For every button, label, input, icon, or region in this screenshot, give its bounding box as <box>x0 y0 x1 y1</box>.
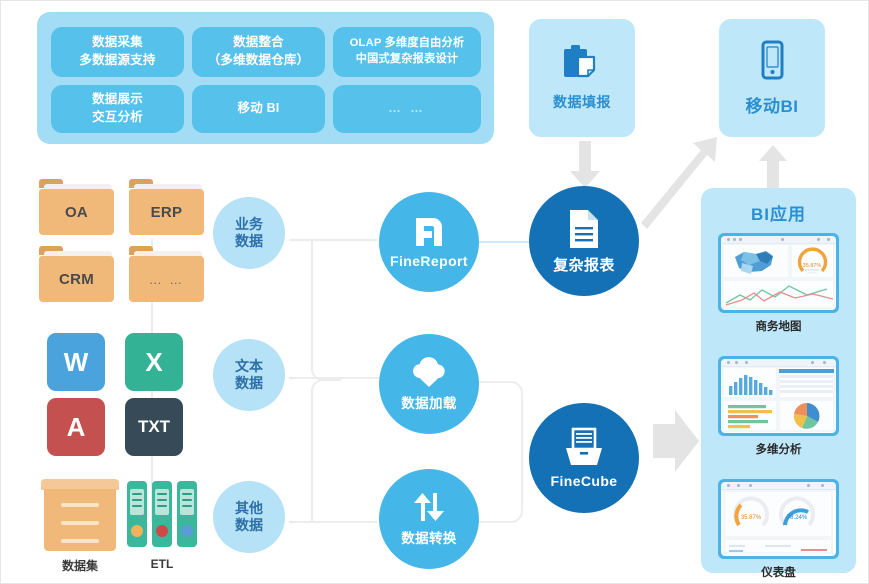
product-finecube-label: FineCube <box>551 473 618 489</box>
file-tile-txt[interactable]: TXT <box>125 398 183 456</box>
bi-thumb-frame <box>718 356 839 436</box>
card-line2: 交互分析 <box>92 110 143 124</box>
bi-item-caption: 商务地图 <box>718 318 839 334</box>
etl-label-text: ETL <box>151 557 174 571</box>
folder-body: OA <box>39 189 114 235</box>
capability-card-olap[interactable]: OLAP 多维度自由分析 中国式复杂报表设计 <box>333 27 481 77</box>
capability-card-collect-text: 数据采集 多数据源支持 <box>79 34 155 70</box>
folder-label: ERP <box>151 204 183 221</box>
connector-transform-to-finecube <box>479 461 523 523</box>
card-line1: 数据采集 <box>92 35 143 49</box>
capability-card-integrate[interactable]: 数据整合 （多维数据仓库） <box>192 27 325 77</box>
file-tile-word[interactable]: W <box>47 333 105 391</box>
process-circle-finereport[interactable]: FineReport <box>379 192 479 292</box>
capability-card-integrate-text: 数据整合 （多维数据仓库） <box>208 34 310 70</box>
binder-icon[interactable] <box>177 481 197 547</box>
cloud-download-icon <box>409 356 449 388</box>
file-tile-txt-label: TXT <box>138 417 170 437</box>
process-circle-data-load[interactable]: 数据加载 <box>379 334 479 434</box>
bi-item-caption: 多维分析 <box>718 441 839 457</box>
bi-thumb-image: 35.87% <box>721 236 836 310</box>
cabinet-handle <box>61 539 99 543</box>
connector-bus-lower <box>311 379 341 523</box>
capability-card-collect[interactable]: 数据采集 多数据源支持 <box>51 27 184 77</box>
card-line2: 中国式复杂报表设计 <box>356 53 459 65</box>
data-entry-label: 数据填报 <box>553 92 611 112</box>
connector-bus-upper <box>311 239 341 381</box>
gauge-right-value: 78.24% <box>787 515 808 521</box>
card-line1: OLAP 多维度自由分析 <box>350 37 465 49</box>
category-line1: 业务 <box>235 216 263 234</box>
arrow-entry-to-report <box>567 141 603 189</box>
finereport-logo-icon <box>412 215 446 249</box>
cube-tray-icon <box>562 427 606 469</box>
file-tile-excel[interactable]: X <box>125 333 183 391</box>
process-data-load-label: 数据加载 <box>401 392 457 412</box>
transform-arrows-icon <box>409 491 449 523</box>
category-circle-text[interactable]: 文本 数据 <box>213 339 285 411</box>
product-circle-finecube[interactable]: FineCube <box>529 403 639 513</box>
bi-item-caption: 仪表盘 <box>718 564 839 580</box>
folder-body: … … <box>129 256 204 302</box>
category-line1: 文本 <box>235 358 263 376</box>
file-tile-word-label: W <box>64 347 89 378</box>
clipboard-icon <box>561 44 603 84</box>
binder-line <box>132 505 142 507</box>
source-etl-label: ETL <box>127 557 197 571</box>
product-circle-complex-report[interactable]: 复杂报表 <box>529 186 639 296</box>
cabinet-handle <box>61 503 99 507</box>
folder-label: OA <box>65 204 88 221</box>
category-circle-other[interactable]: 其他 数据 <box>213 481 285 553</box>
file-tile-acrobat[interactable]: A <box>47 398 105 456</box>
capability-panel: 数据采集 多数据源支持 数据整合 （多维数据仓库） OLAP 多维度自由分析 中… <box>37 12 494 144</box>
card-line2: （多维数据仓库） <box>208 53 310 67</box>
category-line2: 数据 <box>235 233 263 251</box>
binder-line <box>132 499 142 501</box>
folder-label: CRM <box>59 271 94 288</box>
bi-thumb-image: 35.87% 78.24% <box>721 482 836 556</box>
category-line1: 其他 <box>235 500 263 518</box>
connector-bus-to-load <box>337 377 379 381</box>
card-line2: 多数据源支持 <box>79 53 155 67</box>
card-line1: 数据展示 <box>92 92 143 106</box>
process-data-transform-label: 数据转换 <box>401 527 457 547</box>
capability-card-mobile-bi-text: 移动 BI <box>238 100 280 118</box>
folder-body: CRM <box>39 256 114 302</box>
connector-finereport-to-report <box>479 241 529 245</box>
category-circle-business[interactable]: 业务 数据 <box>213 197 285 269</box>
connector-load-to-finecube <box>479 381 523 463</box>
cabinet-handle <box>61 521 99 525</box>
bi-panel-title: BI应用 <box>701 200 856 225</box>
bi-item-business-map[interactable]: 35.87% 商务地图 <box>718 233 839 334</box>
binder-line <box>157 505 167 507</box>
capability-card-olap-text: OLAP 多维度自由分析 中国式复杂报表设计 <box>350 36 465 68</box>
binder-line <box>132 493 142 495</box>
mobile-bi-box[interactable]: 移动BI <box>719 19 825 137</box>
bi-application-panel: BI应用 <box>701 188 856 573</box>
capability-card-more-text: … … <box>388 100 425 118</box>
binder-line <box>157 493 167 495</box>
binder-icon[interactable] <box>127 481 147 547</box>
mobile-bi-label: 移动BI <box>746 92 799 117</box>
arrow-finecube-to-bi <box>653 406 701 476</box>
binder-dot <box>131 525 143 537</box>
arrow-bi-to-mobile <box>756 145 790 191</box>
process-finereport-label: FineReport <box>390 253 468 269</box>
bi-item-multidim[interactable]: 多维分析 <box>718 356 839 457</box>
document-icon <box>566 208 602 250</box>
capability-card-mobile-bi[interactable]: 移动 BI <box>192 85 325 133</box>
source-folder-erp[interactable]: ERP <box>129 179 204 235</box>
bi-thumb-image <box>721 359 836 433</box>
diagram-canvas: 数据采集 多数据源支持 数据整合 （多维数据仓库） OLAP 多维度自由分析 中… <box>0 0 869 584</box>
category-line2: 数据 <box>235 375 263 393</box>
binder-dot <box>181 525 193 537</box>
gauge-left-value: 35.87% <box>741 515 762 521</box>
source-folder-crm[interactable]: CRM <box>39 246 114 302</box>
capability-card-display[interactable]: 数据展示 交互分析 <box>51 85 184 133</box>
file-cabinet-icon[interactable] <box>41 479 119 551</box>
smartphone-icon <box>755 40 789 84</box>
svg-text:35.87%: 35.87% <box>803 263 822 269</box>
binder-icon[interactable] <box>152 481 172 547</box>
bi-thumb-frame: 35.87% <box>718 233 839 313</box>
capability-card-display-text: 数据展示 交互分析 <box>92 91 143 127</box>
folder-label: … … <box>149 272 185 287</box>
binder-line <box>182 505 192 507</box>
folder-body: ERP <box>129 189 204 235</box>
file-tile-acrobat-label: A <box>67 412 86 443</box>
product-complex-report-label: 复杂报表 <box>553 254 615 275</box>
bi-thumb-frame: 35.87% 78.24% <box>718 479 839 559</box>
source-folder-more[interactable]: … … <box>129 246 204 302</box>
bi-item-dashboard[interactable]: 35.87% 78.24% 仪表盘 <box>718 479 839 580</box>
source-dataset-label: 数据集 <box>41 557 119 574</box>
source-folder-oa[interactable]: OA <box>39 179 114 235</box>
file-tile-excel-label: X <box>145 347 162 378</box>
binder-dot <box>156 525 168 537</box>
data-entry-box[interactable]: 数据填报 <box>529 19 635 137</box>
card-line1: 数据整合 <box>233 35 284 49</box>
binder-line <box>182 493 192 495</box>
dataset-label-text: 数据集 <box>62 559 98 573</box>
category-line2: 数据 <box>235 517 263 535</box>
binder-line <box>182 499 192 501</box>
binder-line <box>157 499 167 501</box>
process-circle-data-transform[interactable]: 数据转换 <box>379 469 479 569</box>
capability-card-more[interactable]: … … <box>333 85 481 133</box>
